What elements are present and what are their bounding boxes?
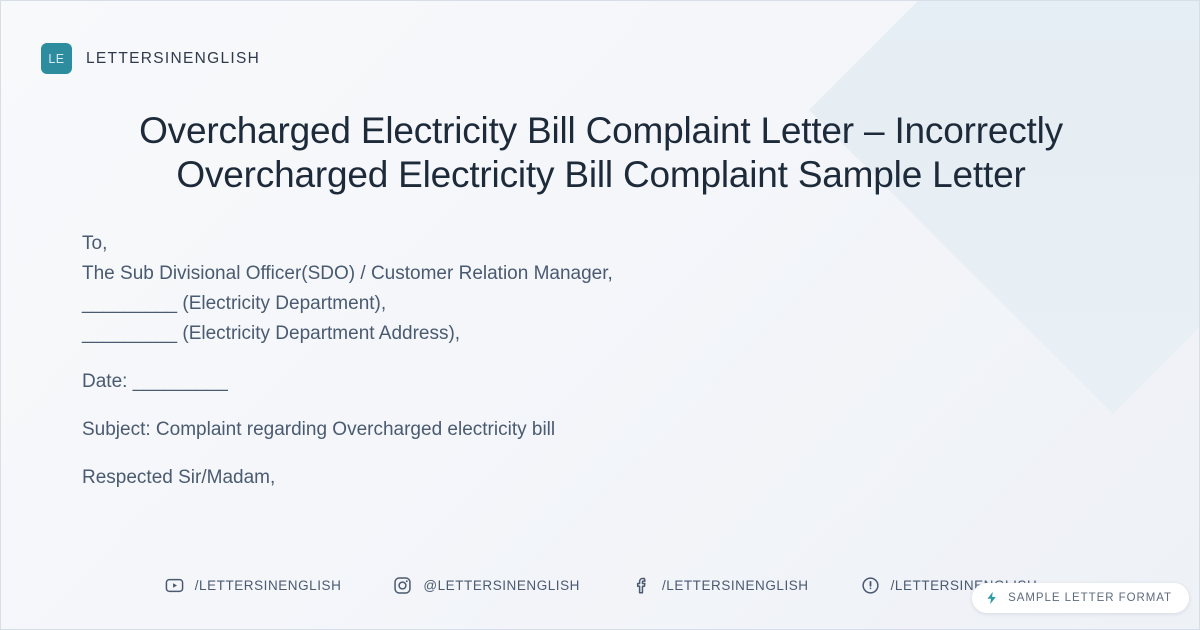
letter-recipient-line: The Sub Divisional Officer(SDO) / Custom… (82, 259, 942, 289)
letter-to-line: To, (82, 229, 942, 259)
social-label-instagram: @LETTERSINENGLISH (423, 578, 580, 593)
sample-letter-format-badge[interactable]: SAMPLE LETTER FORMAT (972, 583, 1189, 613)
social-link-instagram[interactable]: @LETTERSINENGLISH (393, 576, 580, 595)
brand-name-label: LETTERSINENGLISH (86, 50, 260, 68)
letter-address-line: _________ (Electricity Department Addres… (82, 319, 942, 349)
social-label-facebook: /LETTERSINENGLISH (662, 578, 809, 593)
share-card: LE LETTERSINENGLISH Overcharged Electric… (0, 0, 1200, 630)
facebook-icon (632, 576, 651, 595)
social-label-youtube: /LETTERSINENGLISH (195, 578, 342, 593)
letter-department-line: _________ (Electricity Department), (82, 289, 942, 319)
letter-salutation-line: Respected Sir/Madam, (82, 463, 942, 493)
youtube-icon (165, 576, 184, 595)
letter-spacer-3 (82, 445, 942, 463)
page-title: Overcharged Electricity Bill Complaint L… (61, 109, 1141, 197)
brand-header: LE LETTERSINENGLISH (41, 43, 260, 74)
letter-spacer-1 (82, 349, 942, 367)
page-title-line-2: Overcharged Electricity Bill Complaint S… (61, 153, 1141, 197)
social-link-youtube[interactable]: /LETTERSINENGLISH (165, 576, 342, 595)
pinterest-icon (861, 576, 880, 595)
letter-date-line: Date: _________ (82, 367, 942, 397)
letter-body: To, The Sub Divisional Officer(SDO) / Cu… (82, 229, 942, 493)
letter-spacer-2 (82, 397, 942, 415)
page-title-line-1: Overcharged Electricity Bill Complaint L… (61, 109, 1141, 153)
lightning-bolt-icon (985, 591, 999, 605)
social-link-facebook[interactable]: /LETTERSINENGLISH (632, 576, 809, 595)
sample-letter-format-label: SAMPLE LETTER FORMAT (1008, 592, 1172, 604)
letter-subject-line: Subject: Complaint regarding Overcharged… (82, 415, 942, 445)
brand-logo-badge: LE (41, 43, 72, 74)
instagram-icon (393, 576, 412, 595)
